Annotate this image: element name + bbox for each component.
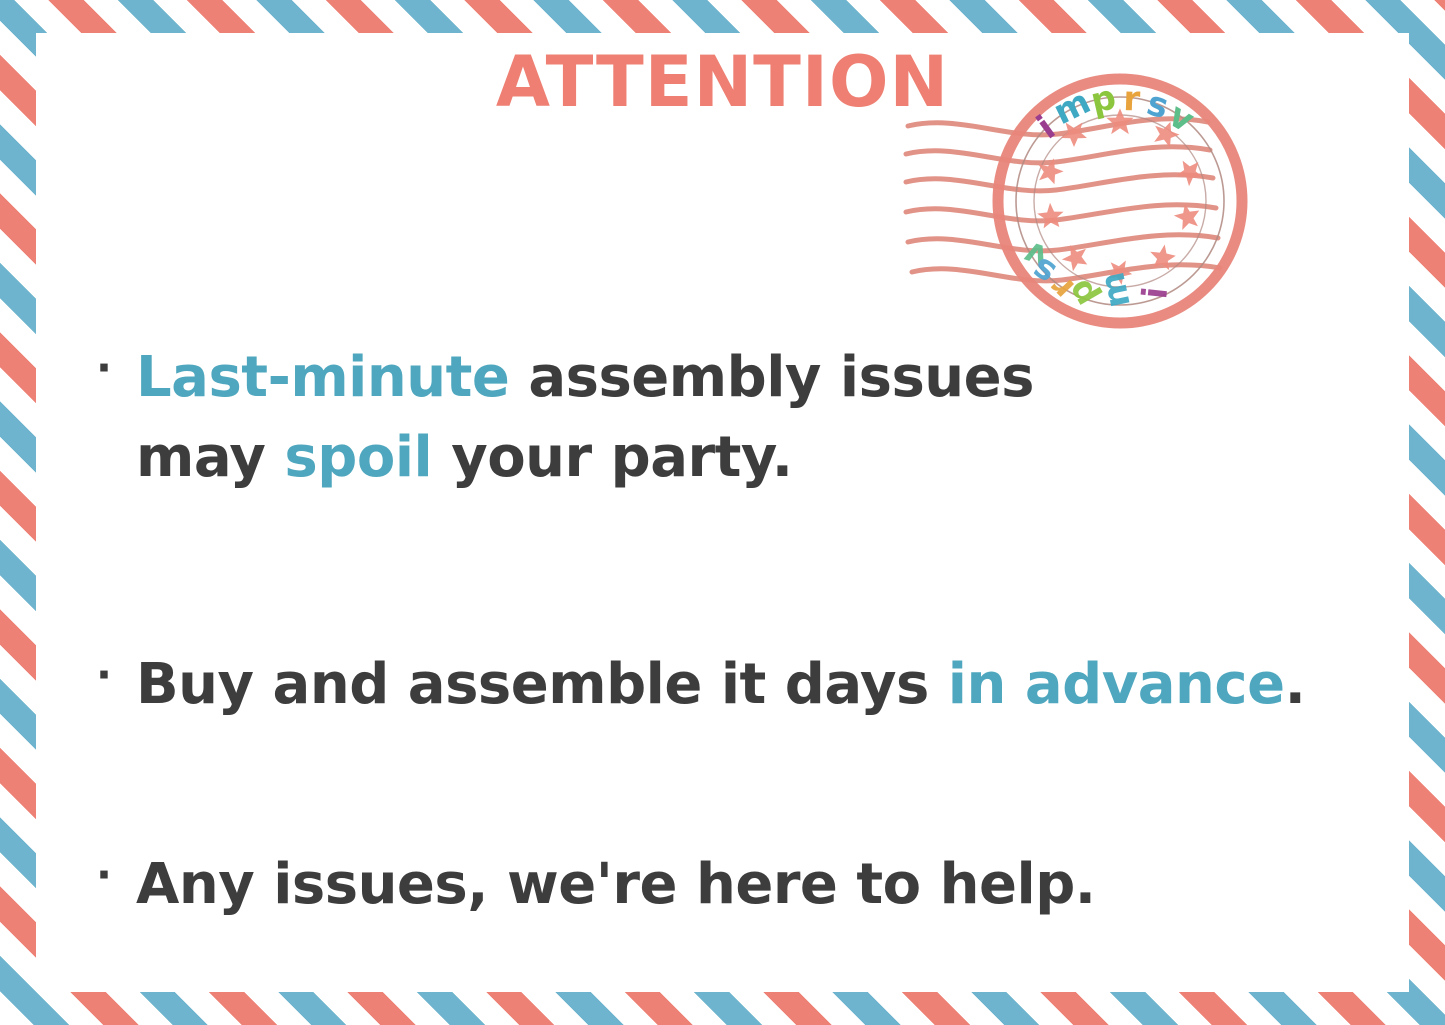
highlight-span: Last-minute bbox=[136, 345, 509, 410]
svg-text:i: i bbox=[1135, 285, 1176, 301]
plain-span: Buy and assemble it days bbox=[136, 652, 948, 717]
plain-span: . bbox=[1285, 652, 1306, 717]
bullet-marker: · bbox=[96, 338, 136, 398]
attention-card: ATTENTION bbox=[0, 0, 1445, 1025]
bullet-list: · Last-minute assembly issuesmay spoil y… bbox=[96, 338, 1385, 924]
bullet-marker: · bbox=[96, 845, 136, 905]
list-item: · Any issues, we're here to help. bbox=[96, 845, 1385, 925]
list-item-text: Any issues, we're here to help. bbox=[136, 845, 1385, 925]
plain-span: your party. bbox=[432, 425, 792, 490]
plain-span: Any issues, we're here to help. bbox=[136, 852, 1096, 917]
highlight-span: spoil bbox=[284, 425, 432, 490]
svg-text:r: r bbox=[1123, 79, 1141, 120]
list-item: · Last-minute assembly issuesmay spoil y… bbox=[96, 338, 1385, 497]
postmark-stamp: i m p r s v v s r p m i bbox=[898, 62, 1363, 337]
list-item: · Buy and assemble it days in advance. bbox=[96, 645, 1385, 725]
list-item-text: Last-minute assembly issuesmay spoil you… bbox=[136, 338, 1385, 497]
plain-span: may bbox=[136, 425, 284, 490]
card-content: ATTENTION bbox=[0, 0, 1445, 1025]
highlight-span: in advance bbox=[948, 652, 1285, 717]
plain-span: assembly issues bbox=[509, 345, 1034, 410]
list-item-text: Buy and assemble it days in advance. bbox=[136, 645, 1385, 725]
bullet-marker: · bbox=[96, 645, 136, 705]
